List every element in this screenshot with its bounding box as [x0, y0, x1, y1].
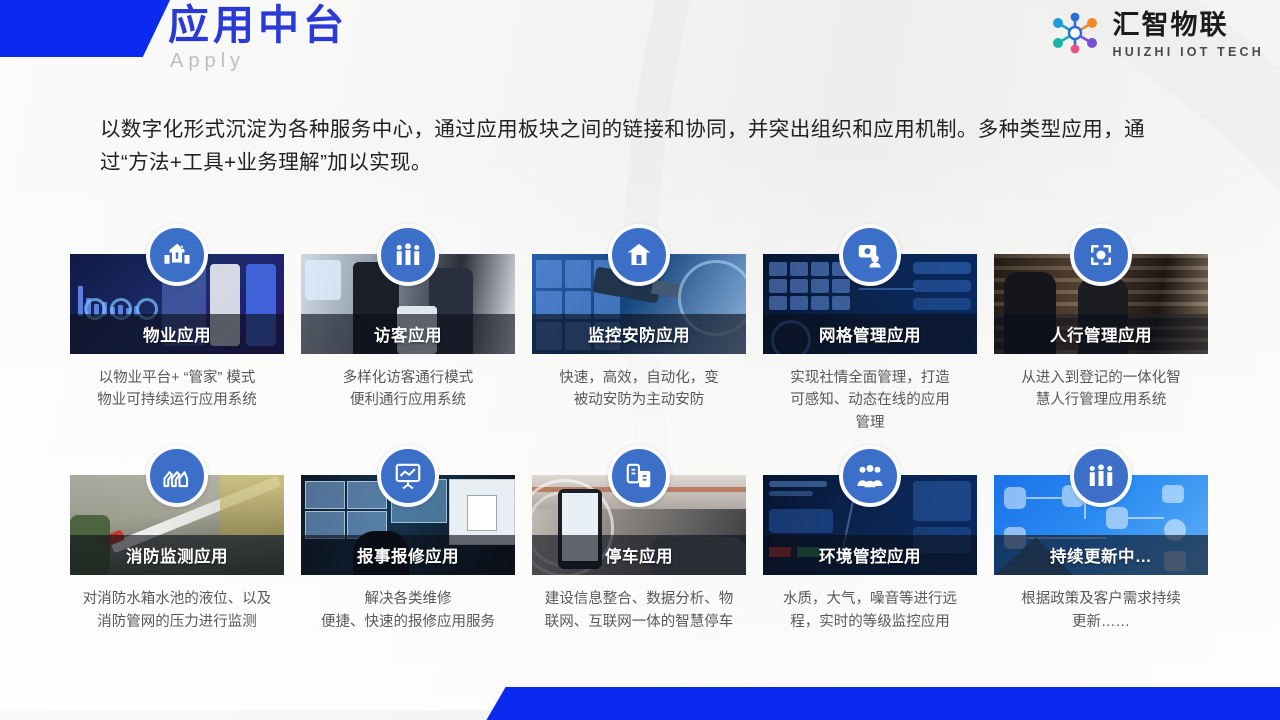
app-card-pedestrian[interactable]: 人行管理应用 从进入到登记的一体化智 慧人行管理应用系统	[994, 224, 1208, 434]
application-card-grid: 物业应用 以物业平台+ “管家” 模式 物业可持续运行应用系统 访客应用 多样化…	[70, 224, 1210, 633]
logo-name-en: HUIZHI IOT TECH	[1113, 45, 1264, 59]
warehouse-roof-icon	[146, 445, 208, 507]
card-description: 对消防水箱水池的液位、以及 消防管网的压力进行监测	[70, 588, 284, 633]
app-card-repair-report[interactable]: 报事报修应用 解决各类维修 便捷、快速的报修应用服务	[301, 445, 515, 633]
card-description: 解决各类维修 便捷、快速的报修应用服务	[301, 588, 515, 633]
network-molecule-icon	[1046, 12, 1104, 59]
card-description: 实现社情全面管理，打造 可感知、动态在线的应用 管理	[763, 367, 977, 434]
card-title: 网格管理应用	[819, 322, 921, 346]
card-description: 水质，大气，噪音等进行远 程，实时的等级监控应用	[763, 588, 977, 633]
card-title-bar: 监控安防应用	[532, 314, 746, 354]
card-title-bar: 持续更新中…	[994, 535, 1208, 575]
people-group-solid-icon	[839, 445, 901, 507]
app-card-surveillance[interactable]: 监控安防应用 快速，高效，自动化，变 被动安防为主动安防	[532, 224, 746, 434]
page-subtitle: Apply	[170, 50, 245, 73]
people-group-icon	[377, 224, 439, 286]
card-title: 物业应用	[143, 322, 211, 346]
card-title-bar: 停车应用	[532, 535, 746, 575]
card-title: 人行管理应用	[1050, 322, 1152, 346]
card-title-bar: 人行管理应用	[994, 314, 1208, 354]
card-description: 建设信息整合、数据分析、物 联网、互联网一体的智慧停车	[532, 588, 746, 633]
card-title-bar: 报事报修应用	[301, 535, 515, 575]
card-title: 报事报修应用	[357, 543, 459, 567]
card-title: 持续更新中…	[1050, 543, 1152, 567]
app-card-parking[interactable]: 停车应用 建设信息整合、数据分析、物 联网、互联网一体的智慧停车	[532, 445, 746, 633]
logo-name-cn: 汇智物联	[1113, 12, 1264, 39]
card-title: 停车应用	[605, 543, 673, 567]
page-title: 应用中台	[168, 4, 348, 47]
card-title-bar: 访客应用	[301, 314, 515, 354]
card-title-bar: 环境管控应用	[763, 535, 977, 575]
header-accent-shape	[0, 0, 170, 57]
home-security-icon	[608, 224, 670, 286]
app-card-visitor[interactable]: 访客应用 多样化访客通行模式 便利通行应用系统	[301, 224, 515, 434]
app-card-fire-monitoring[interactable]: 消防监测应用 对消防水箱水池的液位、以及 消防管网的压力进行监测	[70, 445, 284, 633]
intro-paragraph: 以数字化形式沉淀为各种服务中心，通过应用板块之间的链接和协同，并突出组织和应用机…	[100, 113, 1175, 179]
brand-logo: 汇智物联 HUIZHI IOT TECH	[1046, 12, 1264, 59]
card-title: 访客应用	[374, 322, 442, 346]
face-recognition-icon	[1070, 224, 1132, 286]
app-card-grid-management[interactable]: 网格管理应用 实现社情全面管理，打造 可感知、动态在线的应用 管理	[763, 224, 977, 434]
card-title-bar: 消防监测应用	[70, 535, 284, 575]
card-description: 多样化访客通行模式 便利通行应用系统	[301, 367, 515, 412]
card-description: 从进入到登记的一体化智 慧人行管理应用系统	[994, 367, 1208, 412]
card-title: 消防监测应用	[126, 543, 228, 567]
house-community-icon	[146, 224, 208, 286]
mobile-transfer-icon	[608, 445, 670, 507]
card-description: 快速，高效，自动化，变 被动安防为主动安防	[532, 367, 746, 412]
people-group-icon	[1070, 445, 1132, 507]
card-title-bar: 网格管理应用	[763, 314, 977, 354]
app-card-environment[interactable]: 环境管控应用 水质，大气，噪音等进行远 程，实时的等级监控应用	[763, 445, 977, 633]
payment-person-icon	[839, 224, 901, 286]
card-title-bar: 物业应用	[70, 314, 284, 354]
app-card-continuous-update[interactable]: 持续更新中… 根据政策及客户需求持续 更新……	[994, 445, 1208, 633]
chart-board-icon	[377, 445, 439, 507]
card-title: 监控安防应用	[588, 322, 690, 346]
card-description: 根据政策及客户需求持续 更新……	[994, 588, 1208, 633]
card-description: 以物业平台+ “管家” 模式 物业可持续运行应用系统	[70, 367, 284, 412]
card-title: 环境管控应用	[819, 543, 921, 567]
app-card-property[interactable]: 物业应用 以物业平台+ “管家” 模式 物业可持续运行应用系统	[70, 224, 284, 434]
